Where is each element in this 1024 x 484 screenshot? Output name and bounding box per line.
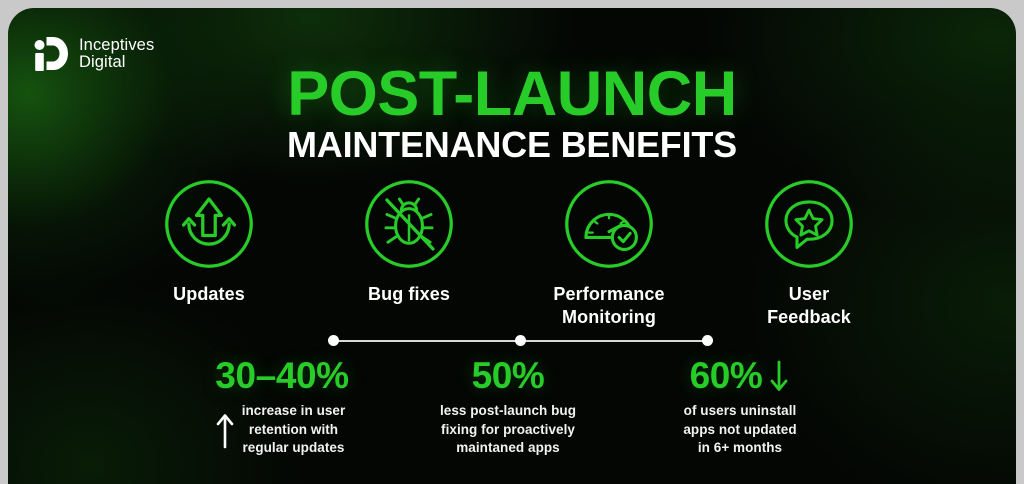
benefit-bug-fixes[interactable]: Bug fixes (309, 176, 509, 329)
stat-value-uninstall: 60% (690, 356, 791, 395)
stat-value-bugfix: 50% (472, 356, 545, 395)
stat-desc-uninstall: of users uninstall apps not updated in 6… (683, 402, 796, 458)
connector-timeline (328, 335, 713, 347)
speedometer-check-icon (561, 176, 657, 272)
arrow-down-icon (768, 359, 790, 393)
stat-body-retention: increase in user retention with regular … (215, 402, 346, 458)
uninstall-desc-line1: of users uninstall (684, 403, 797, 418)
perf-label-line1: Performance (553, 284, 664, 304)
stat-desc-retention: increase in user retention with regular … (242, 402, 346, 458)
brand-name-line1: Inceptives (79, 37, 154, 54)
benefit-updates[interactable]: Updates (109, 176, 309, 329)
stat-bugfix: 50% less post-launch bug fixing for proa… (402, 356, 614, 458)
benefit-user-feedback[interactable]: User Feedback (709, 176, 909, 329)
bug-slash-icon (361, 176, 457, 272)
bugfix-desc-line1: less post-launch bug (440, 403, 576, 418)
uninstall-desc-line2: apps not updated (683, 422, 796, 437)
stat-body-uninstall: of users uninstall apps not updated in 6… (683, 402, 796, 458)
connector-dot-1 (328, 335, 339, 346)
circular-update-arrow-icon (161, 176, 257, 272)
connector-dot-2 (515, 335, 526, 346)
benefit-label-performance-monitoring: Performance Monitoring (553, 283, 664, 329)
retention-desc-line3: regular updates (242, 440, 344, 455)
bugfix-desc-line3: maintaned apps (456, 440, 559, 455)
title-block: POST-LAUNCH MAINTENANCE BENEFITS (8, 62, 1016, 164)
benefit-label-bug-fixes: Bug fixes (368, 283, 450, 306)
benefit-label-user-feedback: User Feedback (767, 283, 851, 329)
page-subtitle: MAINTENANCE BENEFITS (8, 125, 1016, 165)
page-title: POST-LAUNCH (8, 62, 1016, 128)
speech-bubble-star-icon (761, 176, 857, 272)
bugfix-desc-line2: fixing for proactively (441, 422, 575, 437)
stat-uninstall: 60% of users uninstall apps not updated … (634, 356, 846, 458)
benefit-label-updates: Updates (173, 283, 245, 306)
stat-desc-bugfix: less post-launch bug fixing for proactiv… (440, 402, 576, 458)
connector-dot-3 (702, 335, 713, 346)
stat-retention: 30–40% increase in user retention with r… (176, 356, 388, 458)
stats-row: 30–40% increase in user retention with r… (8, 356, 1016, 458)
retention-desc-line1: increase in user (242, 403, 346, 418)
feedback-label-line2: Feedback (767, 307, 851, 327)
perf-label-line2: Monitoring (562, 307, 656, 327)
retention-desc-line2: retention with (249, 422, 338, 437)
benefit-performance-monitoring[interactable]: Performance Monitoring (509, 176, 709, 329)
benefits-row: Updates Bug fixes (8, 176, 1016, 329)
stat-value-retention: 30–40% (215, 356, 348, 395)
infographic-card: Inceptives Digital POST-LAUNCH MAINTENAN… (8, 8, 1016, 484)
arrow-up-icon (215, 410, 235, 450)
stat-value-uninstall-text: 60% (690, 356, 763, 395)
uninstall-desc-line3: in 6+ months (698, 440, 782, 455)
stat-body-bugfix: less post-launch bug fixing for proactiv… (440, 402, 576, 458)
feedback-label-line1: User (789, 284, 829, 304)
